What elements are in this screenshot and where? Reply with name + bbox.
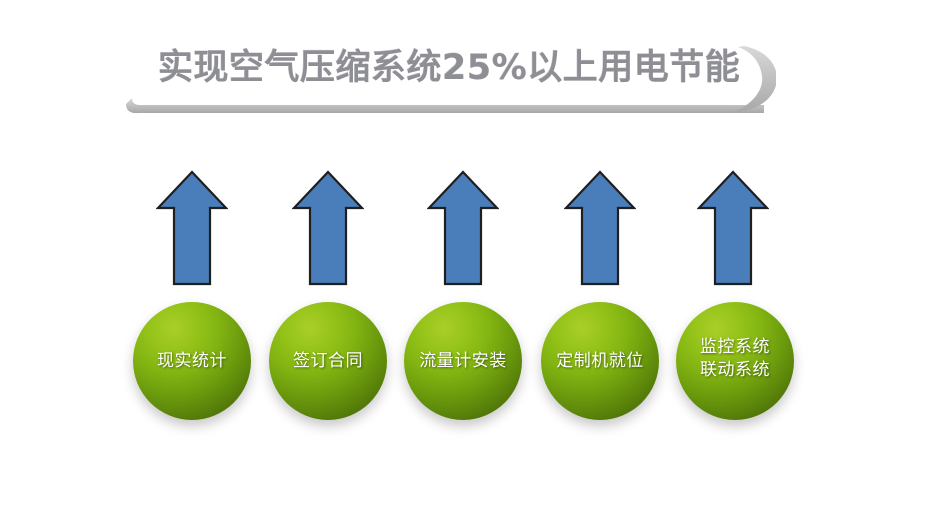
process-node-2[interactable]: 签订合同 [269,302,387,420]
node-label: 监控系统 联动系统 [676,302,794,420]
page-title: 实现空气压缩系统25%以上用电节能 [158,42,738,94]
process-node-1[interactable]: 现实统计 [133,302,251,420]
node-label: 签订合同 [269,302,387,420]
node-label: 定制机就位 [541,302,659,420]
process-node-5[interactable]: 监控系统 联动系统 [676,302,794,420]
node-label: 流量计安装 [404,302,522,420]
arrow-up-icon [564,170,636,286]
node-label: 现实统计 [133,302,251,420]
arrow-up-icon [697,170,769,286]
arrow-up-icon [292,170,364,286]
arrow-up-icon [156,170,228,286]
slide-canvas: 实现空气压缩系统25%以上用电节能 现实统计 签订合同 流量计安装 定制机就位 … [0,0,945,529]
title-banner: 实现空气压缩系统25%以上用电节能 [124,28,776,114]
arrow-up-icon [427,170,499,286]
process-node-4[interactable]: 定制机就位 [541,302,659,420]
process-node-3[interactable]: 流量计安装 [404,302,522,420]
